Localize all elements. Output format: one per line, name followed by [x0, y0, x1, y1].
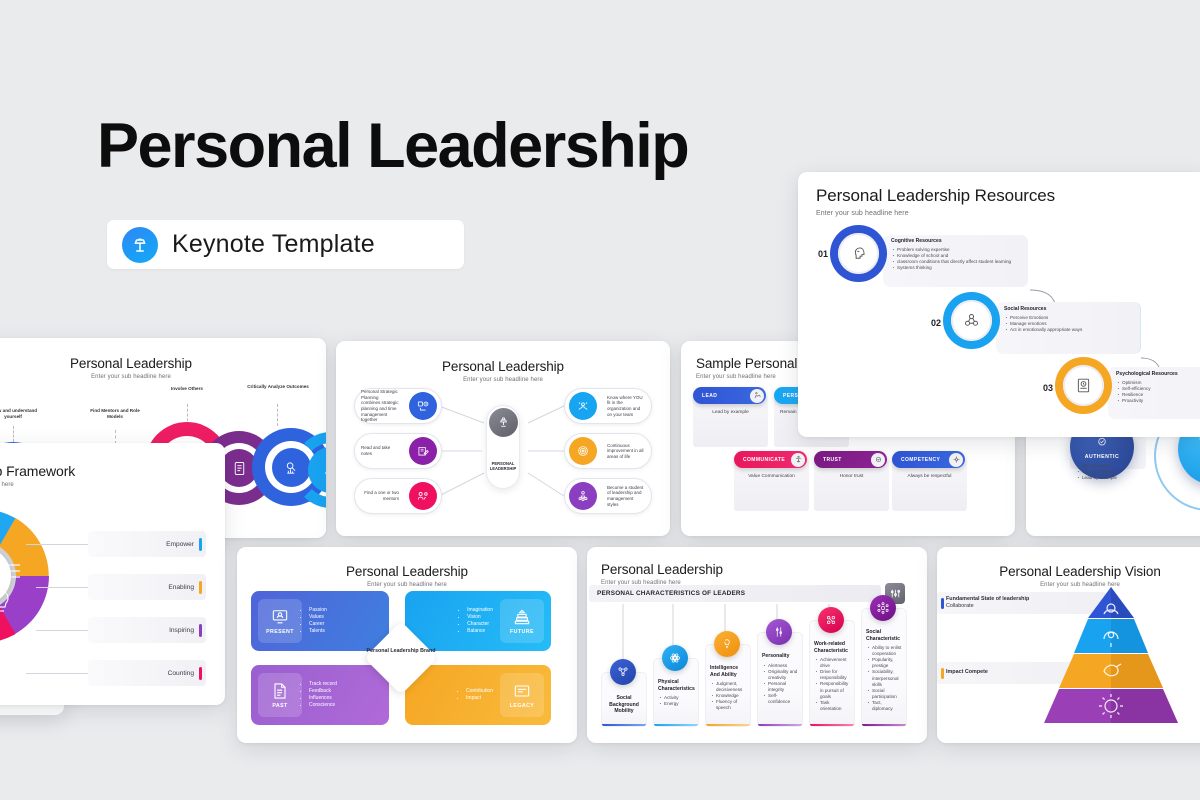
authentic-label: AUTHENTIC — [1085, 454, 1119, 460]
future-icon: FUTURE — [500, 599, 544, 643]
hub-pill-text: Continuous improvement in all areas of l… — [601, 443, 651, 460]
resource-heading: Cognitive Resources — [891, 238, 1021, 245]
item: Achievement drive — [814, 657, 850, 669]
quadrant-cap: FUTURE — [510, 629, 534, 635]
hub-pill-left-2[interactable]: Find a one or two mentors — [354, 478, 442, 514]
framework-row-0[interactable]: Empower — [88, 531, 206, 557]
connector-line — [36, 630, 88, 631]
hub-pill-text: Personal Strategic Planning combines str… — [355, 389, 405, 423]
resource-ring-2 — [1055, 357, 1112, 414]
keynote-template-badge[interactable]: Keynote Template — [107, 220, 464, 269]
row-color-tick — [941, 598, 944, 609]
student-icon — [569, 482, 597, 510]
framework-row-label: Enabling — [168, 584, 194, 591]
resource-text-2: Psychological Resources Optimism Self-ef… — [1116, 371, 1200, 404]
quadrant-cap: LEGACY — [510, 703, 534, 709]
physical-icon — [662, 645, 688, 671]
brand-quadrant-present[interactable]: PRESENT Passion Values Career Talents — [251, 591, 389, 651]
char-column-5[interactable]: Social Characteristic Ability to enlist … — [861, 608, 907, 727]
item: Tact, diplomacy — [866, 700, 902, 712]
slide-content: Personal Leadership Resources Enter your… — [798, 172, 1200, 437]
strategy-icon — [409, 392, 437, 420]
item: Fluency of speech — [710, 699, 746, 711]
char-column-4[interactable]: Work-related Characteristic Achievement … — [809, 620, 855, 727]
item: Proactivity — [1116, 398, 1200, 404]
brand-quadrant-past[interactable]: PAST Track record Feedback Influences Co… — [251, 665, 389, 725]
sample-cap-0[interactable]: LEAD — [693, 387, 766, 404]
slide-card-leadership-vision[interactable]: Personal Leadership Vision Enter your su… — [937, 547, 1200, 743]
quadrant-cap: PAST — [272, 703, 287, 709]
wave-label-4: Critically Analyze Outcomes — [246, 384, 310, 390]
item: Responsibility in pursuit of goals — [814, 681, 850, 699]
item: Character — [467, 621, 493, 628]
slide-content: Personal Leadership Enter your sub headl… — [237, 547, 577, 743]
item: Judgment, decisiveness — [710, 681, 746, 693]
lectern-icon — [122, 227, 158, 263]
hub-pill-left-1[interactable]: Read and take notes — [354, 433, 442, 469]
hub-pill-right-0[interactable]: Know where YOU fit in the organization a… — [564, 388, 652, 424]
item: Ability to enlist cooperation — [866, 645, 902, 657]
slide-subtitle: Enter your sub headline here — [0, 482, 213, 488]
slide-card-resources[interactable]: Personal Leadership Resources Enter your… — [798, 172, 1200, 437]
slide-content: Personal Leadership Enter your sub headl… — [336, 341, 670, 536]
item: Passion — [309, 607, 327, 614]
sample-cap-2[interactable]: COMMUNICATE — [734, 451, 807, 468]
vision-row-text: Impact Compete — [946, 669, 988, 676]
sample-cap-3[interactable]: TRUST — [814, 451, 887, 468]
resource-text-0: Cognitive Resources Problem solving expe… — [891, 238, 1021, 271]
framework-row-label: Empower — [166, 541, 194, 548]
item: Personal integrity — [762, 681, 798, 693]
slide-content: Personal Leadership Enter your sub headl… — [587, 547, 927, 743]
resource-number-2: 03 — [1043, 383, 1053, 393]
slide-title: Leadership Framework — [0, 463, 213, 479]
quadrant-cap: PRESENT — [266, 629, 294, 635]
slide-title: Personal Leadership — [0, 356, 314, 371]
slide-title: Personal Leadership Vision — [949, 564, 1200, 579]
slide-card-leadership-brand[interactable]: Personal Leadership Enter your sub headl… — [237, 547, 577, 743]
notes-icon — [409, 437, 437, 465]
item: Imagination — [467, 607, 493, 614]
work-related-icon — [818, 607, 844, 633]
vision-pyramid — [1020, 585, 1200, 725]
team-fit-icon — [569, 392, 597, 420]
slide-subtitle: Enter your sub headline here — [0, 374, 314, 380]
hub-pill-text: Read and take notes — [355, 445, 405, 456]
hub-pill-text: Become a student of leadership and manag… — [601, 485, 651, 508]
lead-icon — [750, 389, 764, 403]
poster-stage: Personal Leadership Keynote Template Per… — [0, 0, 1200, 800]
item: Career — [309, 621, 327, 628]
authentic-bullets: Be self-aware Use your talents Lead by e… — [1076, 463, 1146, 481]
legacy-icon: LEGACY — [500, 673, 544, 717]
item: Values — [309, 614, 327, 621]
row-color-tick — [199, 538, 203, 551]
hub-pill-left-0[interactable]: Personal Strategic Planning combines str… — [354, 388, 442, 424]
item: Originality and creativity — [762, 669, 798, 681]
item: Task orientation — [814, 700, 850, 712]
badge-label: Keynote Template — [172, 230, 375, 259]
sample-cap-label: TRUST — [823, 457, 842, 463]
row-color-tick — [941, 668, 944, 679]
connector-line — [26, 544, 88, 545]
dash-line — [13, 426, 14, 442]
hub-pill-right-2[interactable]: Become a student of leadership and manag… — [564, 478, 652, 514]
slide-card-leadership-hub[interactable]: Personal Leadership Enter your sub headl… — [336, 341, 670, 536]
quadrant-items: Passion Values Career Talents — [309, 607, 327, 636]
present-icon: PRESENT — [258, 599, 302, 643]
resource-number-0: 01 — [818, 249, 828, 259]
vision-row-text: Fundamental State of leadership Collabor… — [946, 596, 1029, 610]
item: Impact — [466, 695, 493, 702]
framework-row-3[interactable]: Counting — [88, 660, 206, 686]
row-color-tick — [199, 581, 203, 594]
row-color-tick — [199, 667, 203, 680]
sample-cap-label: COMPETENCY — [901, 457, 940, 463]
resource-ring-0 — [830, 225, 887, 282]
item: Sociability, interpersonal skills — [866, 669, 902, 687]
past-icon: PAST — [258, 673, 302, 717]
vision-row-heading: Impact Compete — [946, 669, 988, 675]
slide-subtitle: Enter your sub headline here — [249, 582, 565, 588]
connector-line — [26, 673, 88, 674]
hub-label: PERSONAL LEADERSHIP — [487, 461, 519, 471]
brand-center-label: Personal Leadership Brand — [366, 648, 436, 655]
resource-heading: Psychological Resources — [1116, 371, 1200, 378]
brand-quadrant-future[interactable]: FUTURE Imagination Vision Character Bala… — [405, 591, 551, 651]
item: Popularity, prestige — [866, 657, 902, 669]
slide-card-leadership-framework[interactable]: Leadership Framework Enter your sub head… — [0, 443, 225, 705]
item: Influences — [309, 695, 337, 702]
bullet: Lead by example — [1076, 475, 1146, 481]
quadrant-items: Track record Feedback Influences Conscie… — [309, 681, 337, 710]
item: Self-confidence — [762, 693, 798, 705]
item: Vision — [467, 614, 493, 621]
slide-content: Personal Leadership Vision Enter your su… — [937, 547, 1200, 743]
dash-line — [115, 430, 116, 444]
leader-icon — [489, 408, 518, 437]
sample-cap-label: LEAD — [702, 393, 717, 399]
quadrant-items: Imagination Vision Character Balance — [457, 607, 493, 636]
brand-quadrant-legacy[interactable]: LEGACY Contribution Impact — [405, 665, 551, 725]
item: Drive for responsibility — [814, 669, 850, 681]
hub-center: PERSONAL LEADERSHIP — [486, 405, 520, 489]
item: Track record — [309, 681, 337, 688]
mentor-icon — [409, 482, 437, 510]
communicate-icon — [791, 453, 805, 467]
vision-row-sub: Collaborate — [946, 603, 974, 609]
trust-icon — [871, 453, 885, 467]
wave-label-1: Find Mentors and Role Models — [90, 408, 140, 419]
item: Energy — [658, 701, 694, 707]
resource-number-1: 02 — [931, 318, 941, 328]
improvement-icon — [569, 437, 597, 465]
connector-line — [36, 587, 88, 588]
framework-row-label: Inspiring — [169, 627, 194, 634]
sample-cap-4[interactable]: COMPETENCY — [892, 451, 965, 468]
framework-row-2[interactable]: Inspiring — [88, 617, 206, 643]
slide-content: Leadership Framework Enter your sub head… — [0, 443, 225, 705]
resource-text-1: Social Resources Perceive Emotions Manag… — [1004, 306, 1134, 333]
personality-icon — [766, 619, 792, 645]
slide-card-leader-characteristics[interactable]: Personal Leadership Enter your sub headl… — [587, 547, 927, 743]
item: Conscience — [309, 702, 337, 709]
framework-row-1[interactable]: Enabling — [88, 574, 206, 600]
social-background-icon — [610, 659, 636, 685]
hub-pill-text: Know where YOU fit in the organization a… — [601, 395, 651, 418]
item: Contribution — [466, 688, 493, 695]
dash-line — [277, 404, 278, 426]
social-characteristic-icon — [870, 595, 896, 621]
item: Talents — [309, 628, 327, 635]
page-title: Personal Leadership — [97, 113, 688, 179]
item: Social participation — [866, 688, 902, 700]
item: Balance — [467, 628, 493, 635]
item: Feedback — [309, 688, 337, 695]
competency-icon — [949, 453, 963, 467]
vision-row-heading: Fundamental State of leadership — [946, 596, 1029, 602]
char-column-3[interactable]: Personality Alertness Originality and cr… — [757, 632, 803, 727]
resource-heading: Social Resources — [1004, 306, 1134, 313]
hub-pill-right-1[interactable]: Continuous improvement in all areas of l… — [564, 433, 652, 469]
intelligence-icon — [714, 631, 740, 657]
resource-ring-1 — [943, 292, 1000, 349]
sample-cap-label: COMMUNICATE — [743, 457, 785, 463]
hub-pill-text: Find a one or two mentors — [355, 490, 405, 501]
item: Act in emotionally appropriate ways — [1004, 327, 1134, 333]
framework-row-label: Counting — [168, 670, 194, 677]
row-color-tick — [199, 624, 203, 637]
wave-label-0: Know and understand yourself — [0, 408, 42, 419]
slide-title: Personal Leadership — [249, 564, 565, 579]
item: Systems thinking — [891, 265, 1021, 271]
wave-label-2: Involve Others — [158, 386, 216, 392]
quadrant-items: Contribution Impact — [456, 688, 493, 703]
framework-wheel: Personal Leadership — [0, 491, 52, 661]
